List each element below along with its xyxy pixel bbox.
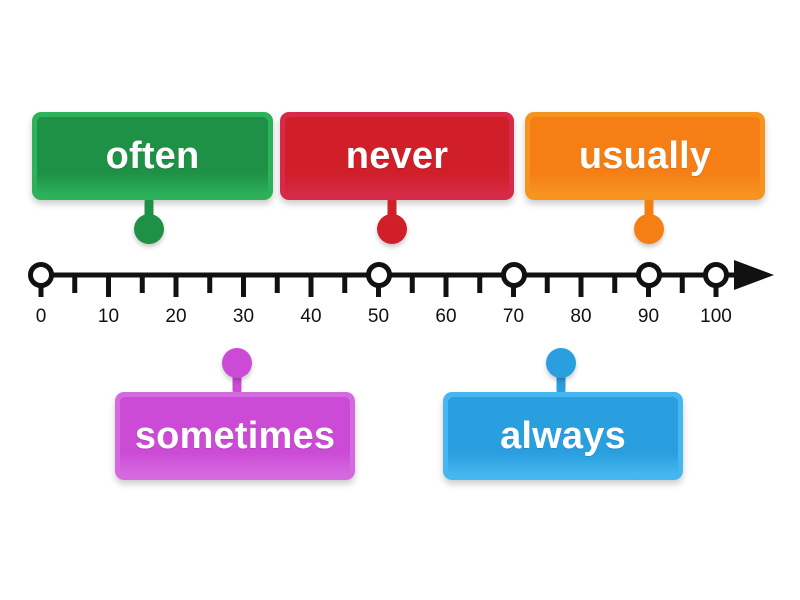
axis-arrow-icon (734, 260, 774, 290)
pin-knob-icon (134, 214, 164, 244)
label-card-always[interactable]: always (443, 392, 683, 480)
label-card-face: never (285, 117, 509, 195)
tick-label-40: 40 (300, 306, 321, 328)
pin-stem (388, 200, 397, 222)
pin-knob-icon (377, 214, 407, 244)
label-card-face: usually (530, 117, 760, 195)
number-line (0, 0, 800, 600)
tick-label-50: 50 (368, 306, 389, 328)
tick-label-90: 90 (638, 306, 659, 328)
tick-label-80: 80 (570, 306, 591, 328)
pin-sometimes (220, 348, 254, 392)
label-card-text: usually (579, 137, 711, 175)
activity-canvas: 0102030405060708090100 oftenneverusually… (0, 0, 800, 600)
tick-label-0: 0 (36, 306, 47, 328)
pin-usually (632, 200, 666, 244)
label-card-face: often (37, 117, 268, 195)
label-card-often[interactable]: often (32, 112, 273, 200)
pin-stem (145, 200, 154, 222)
label-card-sometimes[interactable]: sometimes (115, 392, 355, 480)
tick-label-30: 30 (233, 306, 254, 328)
label-card-never[interactable]: never (280, 112, 514, 200)
pin-stem (232, 370, 241, 392)
pin-often (132, 200, 166, 244)
tick-label-10: 10 (98, 306, 119, 328)
pin-stem (644, 200, 653, 222)
drop-slot-100[interactable] (703, 262, 729, 288)
label-card-usually[interactable]: usually (525, 112, 765, 200)
label-card-face: always (448, 397, 678, 475)
drop-slot-90[interactable] (636, 262, 662, 288)
label-card-text: never (346, 137, 448, 175)
label-card-face: sometimes (120, 397, 350, 475)
pin-always (544, 348, 578, 392)
drop-slot-70[interactable] (501, 262, 527, 288)
label-card-text: always (500, 417, 626, 455)
pin-never (375, 200, 409, 244)
pin-knob-icon (546, 348, 576, 378)
pin-knob-icon (222, 348, 252, 378)
label-card-text: often (106, 137, 200, 175)
pin-stem (556, 370, 565, 392)
pin-knob-icon (634, 214, 664, 244)
drop-slot-50[interactable] (366, 262, 392, 288)
label-card-text: sometimes (135, 417, 335, 455)
tick-label-20: 20 (165, 306, 186, 328)
drop-slot-0[interactable] (28, 262, 54, 288)
tick-label-100: 100 (700, 306, 732, 328)
tick-label-70: 70 (503, 306, 524, 328)
tick-label-60: 60 (435, 306, 456, 328)
